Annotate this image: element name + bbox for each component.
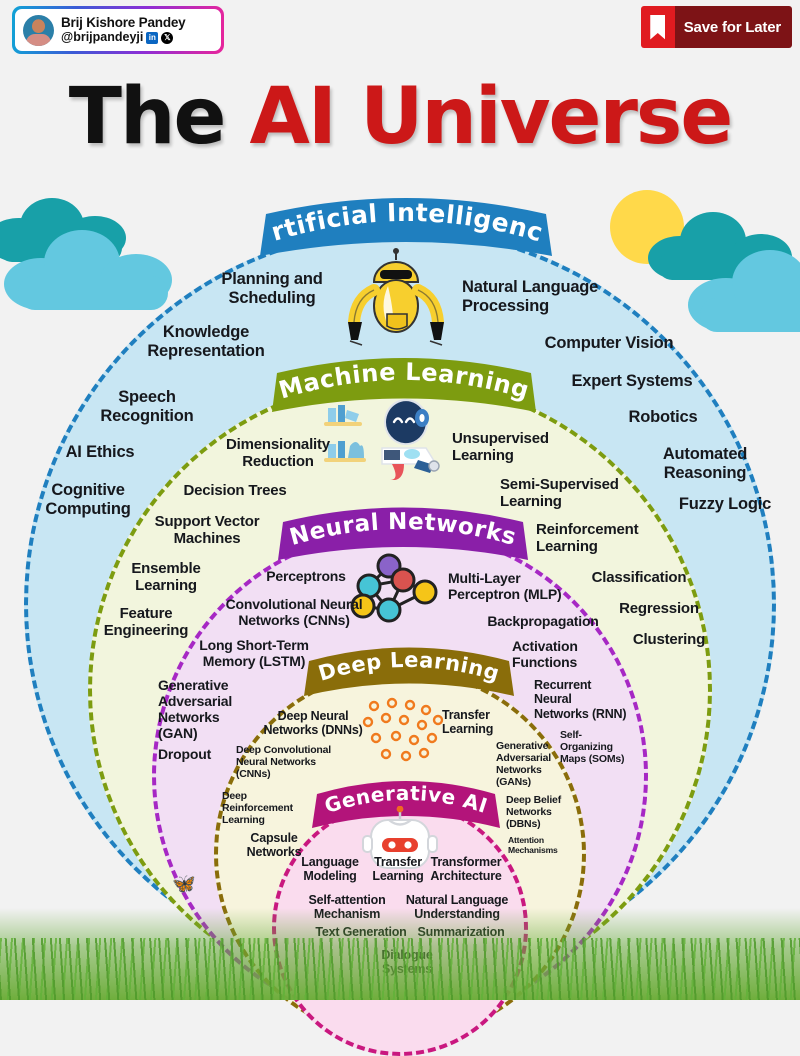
banner-deep-learning: Deep Learning [300, 644, 518, 700]
cloud-icon-right-blue [688, 248, 800, 332]
ml-item-dimensionality-reduction: Dimensionality Reduction [202, 436, 354, 471]
genai-item-language-modeling: Language Modeling [290, 855, 370, 884]
linkedin-icon[interactable]: in [146, 32, 158, 44]
dl-item-deep-cnn: Deep Convolutional Neural Networks (CNNs… [236, 744, 356, 780]
nn-item-mlp: Multi-Layer Perceptron (MLP) [448, 570, 592, 602]
ml-item-clustering: Clustering [614, 631, 724, 648]
nn-item-perceptrons: Perceptrons [248, 568, 364, 584]
nn-item-backpropagation: Backpropagation [472, 613, 614, 629]
nn-item-activation-functions: Activation Functions [512, 638, 622, 670]
nn-item-lstm: Long Short-Term Memory (LSTM) [186, 637, 322, 669]
page-title-part2: AI Universe [250, 72, 732, 162]
ai-item-robotics: Robotics [600, 408, 726, 427]
nn-item-cnn: Convolutional Neural Networks (CNNs) [214, 596, 374, 628]
dl-item-gans: Generative Adversarial Networks (GANs) [496, 740, 590, 788]
ml-item-feature-engineering: Feature Engineering [82, 605, 210, 640]
ml-item-reinforcement-learning: Reinforcement Learning [536, 521, 676, 556]
page-title: The AI Universe [0, 72, 800, 162]
save-for-later-label: Save for Later [675, 6, 792, 48]
ml-item-unsupervised-learning: Unsupervised Learning [452, 430, 588, 465]
nn-item-rnn: Recurrent Neural Networks (RNN) [534, 678, 644, 721]
ai-item-natural-language-processing: Natural Language Processing [462, 278, 634, 316]
genai-item-transformer-architecture: Transformer Architecture [420, 855, 512, 884]
page-title-part1: The [69, 72, 250, 162]
butterfly-icon: 🦋 [172, 872, 196, 896]
avatar [23, 15, 54, 46]
grass-icon [0, 908, 800, 1000]
author-handle-row: @brijpandeyji in 𝕏 [61, 30, 186, 45]
ml-item-regression: Regression [604, 600, 714, 617]
dl-item-attention-mechanisms: Attention Mechanisms [508, 836, 580, 856]
ai-item-ai-ethics: AI Ethics [42, 443, 158, 462]
ai-item-planning-and-scheduling: Planning and Scheduling [192, 270, 352, 308]
author-name: Brij Kishore Pandey [61, 15, 186, 31]
ml-item-ensemble-learning: Ensemble Learning [100, 560, 232, 595]
ml-item-support-vector-machines: Support Vector Machines [136, 513, 278, 548]
ai-item-computer-vision: Computer Vision [528, 334, 690, 353]
cloud-icon-left-blue [4, 226, 180, 310]
dl-item-dnn: Deep Neural Networks (DNNs) [252, 709, 374, 738]
bookmark-icon [641, 6, 675, 48]
author-badge[interactable]: Brij Kishore Pandey @brijpandeyji in 𝕏 [12, 6, 224, 54]
ai-item-expert-systems: Expert Systems [556, 372, 708, 391]
author-handle: @brijpandeyji [61, 30, 143, 45]
ml-item-decision-trees: Decision Trees [158, 482, 312, 499]
ai-item-speech-recognition: Speech Recognition [78, 388, 216, 426]
yellow-robot-icon [344, 248, 448, 353]
x-icon[interactable]: 𝕏 [161, 32, 173, 44]
ai-item-knowledge-representation: Knowledge Representation [120, 323, 292, 361]
ml-item-semi-supervised-learning: Semi-Supervised Learning [500, 476, 656, 511]
infographic-canvas: Artificial Intelligence Machine Learning… [0, 0, 800, 1000]
save-for-later-button[interactable]: Save for Later [641, 6, 792, 48]
ml-item-classification: Classification [578, 569, 700, 586]
dl-item-deep-reinforcement: Deep Reinforcement Learning [222, 790, 328, 826]
dl-item-transfer-learning: Transfer Learning [442, 708, 534, 737]
ai-item-fuzzy-logic: Fuzzy Logic [662, 495, 788, 514]
dl-item-dbn: Deep Belief Networks (DBNs) [506, 794, 592, 830]
ai-item-cognitive-computing: Cognitive Computing [24, 481, 152, 519]
